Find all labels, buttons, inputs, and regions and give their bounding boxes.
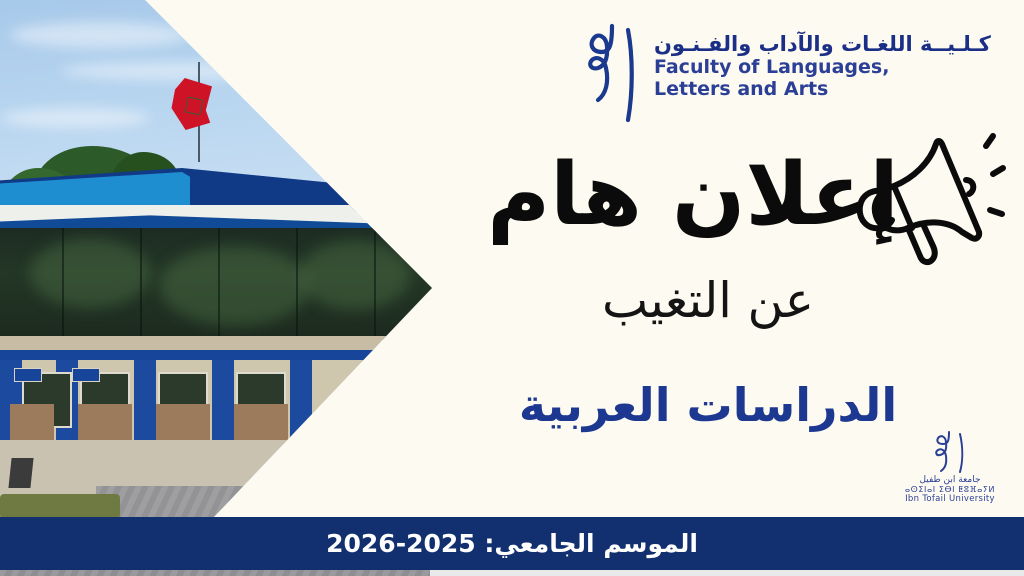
brick-wall bbox=[234, 404, 288, 444]
faculty-logo: كـلـيــة اللغـات والآداب والفـنـون Facul… bbox=[584, 22, 991, 124]
glass-mullion bbox=[62, 228, 64, 340]
faculty-names: كـلـيــة اللغـات والآداب والفـنـون Facul… bbox=[654, 22, 991, 100]
pillar bbox=[212, 360, 234, 440]
pillar bbox=[134, 360, 156, 440]
flag-star-icon bbox=[185, 97, 204, 116]
brick-wall bbox=[78, 404, 132, 444]
paved-walkway bbox=[96, 486, 432, 519]
bottom-strip-photo bbox=[0, 570, 430, 576]
content-area: كـلـيــة اللغـات والآداب والفـنـون Facul… bbox=[432, 0, 1024, 576]
cloud bbox=[10, 22, 190, 48]
door-sign bbox=[14, 368, 42, 382]
glass-mullion bbox=[218, 228, 220, 340]
glass-reflection bbox=[300, 240, 410, 310]
university-name-ar: جامعة ابن طفيل bbox=[898, 475, 1002, 485]
faculty-name-en: Faculty of Languages, Letters and Arts bbox=[654, 57, 964, 100]
announcement-poster: كـلـيــة اللغـات والآداب والفـنـون Facul… bbox=[0, 0, 1024, 576]
door-sign bbox=[72, 368, 100, 382]
brick-wall bbox=[156, 404, 210, 444]
brick-wall bbox=[10, 404, 54, 444]
trash-bin bbox=[8, 458, 33, 488]
university-logo: جامعة ابن طفيل ⴰⵙⵉⵏⴰⵏ ⵉⴱⵏ ⵟⵓⴼⴰⵢⵍ Ibn Tof… bbox=[898, 430, 1002, 504]
university-name-tifinagh: ⴰⵙⵉⵏⴰⵏ ⵉⴱⵏ ⵟⵓⴼⴰⵢⵍ bbox=[898, 485, 1002, 494]
grass-patch bbox=[0, 494, 120, 519]
academic-year-banner: الموسم الجامعي: 2025-2026 bbox=[0, 517, 1024, 570]
glass-reflection bbox=[160, 246, 310, 326]
glass-mullion bbox=[140, 228, 142, 340]
cloud bbox=[60, 62, 300, 80]
university-name-en: Ibn Tofail University bbox=[898, 494, 1002, 504]
program-name: الدراسات العربية bbox=[432, 378, 1024, 432]
photo-content bbox=[0, 0, 432, 519]
academic-year-label: الموسم الجامعي: 2025-2026 bbox=[326, 529, 698, 558]
calligraphic-alef-mark-icon bbox=[584, 22, 640, 124]
faculty-name-ar: كـلـيــة اللغـات والآداب والفـنـون bbox=[654, 32, 991, 56]
glass-mullion bbox=[374, 228, 376, 340]
announcement-subject: عن التغيب bbox=[432, 272, 1024, 329]
campus-building-photo bbox=[0, 0, 432, 519]
page-title: إعلان هام bbox=[432, 150, 1024, 240]
pillar bbox=[290, 360, 312, 440]
glass-reflection bbox=[30, 238, 150, 308]
university-calligraphic-mark-icon bbox=[930, 430, 970, 474]
glass-mullion bbox=[296, 228, 298, 340]
cloud bbox=[0, 108, 150, 128]
